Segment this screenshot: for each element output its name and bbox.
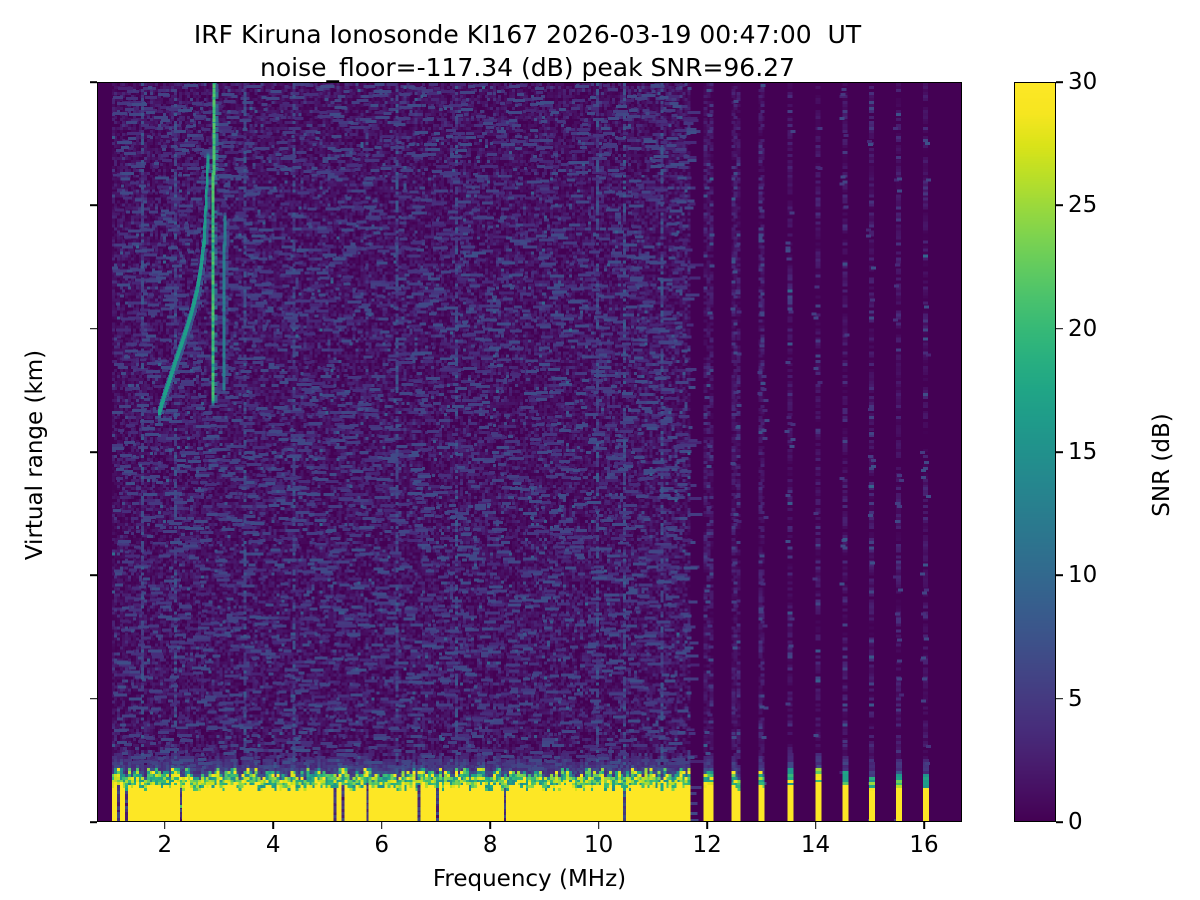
- y-axis-label: Virtual range (km): [22, 245, 48, 665]
- y-tick-mark: [90, 328, 97, 330]
- colorbar-tick-label-20: 20: [1068, 316, 1097, 342]
- y-tick-mark: [90, 205, 97, 207]
- colorbar-tick-mark: [1056, 328, 1063, 330]
- x-tick-mark: [923, 822, 925, 829]
- colorbar-tick-mark: [1056, 575, 1063, 577]
- x-tick-mark: [489, 822, 491, 829]
- y-tick-mark: [90, 451, 97, 453]
- x-tick-mark: [815, 822, 817, 829]
- ionogram-plot-area[interactable]: [97, 82, 962, 822]
- x-tick-label-14: 14: [801, 832, 830, 858]
- colorbar-tick-label-5: 5: [1068, 686, 1083, 712]
- x-tick-label-6: 6: [374, 832, 389, 858]
- colorbar-tick-mark: [1056, 698, 1063, 700]
- y-tick-mark: [90, 821, 97, 823]
- colorbar-gradient: [1015, 83, 1055, 821]
- colorbar-tick-label-25: 25: [1068, 192, 1097, 218]
- colorbar-tick-label-30: 30: [1068, 69, 1097, 95]
- colorbar-tick-label-15: 15: [1068, 439, 1097, 465]
- colorbar-tick-label-10: 10: [1068, 562, 1097, 588]
- x-tick-label-2: 2: [157, 832, 172, 858]
- x-tick-label-16: 16: [909, 832, 938, 858]
- x-tick-label-4: 4: [266, 832, 281, 858]
- x-tick-mark: [381, 822, 383, 829]
- title-line-2: noise_floor=-117.34 (dB) peak SNR=96.27: [0, 51, 1055, 84]
- ionogram-figure: IRF Kiruna Ionosonde KI167 2026-03-19 00…: [0, 0, 1200, 900]
- colorbar-tick-mark: [1056, 821, 1063, 823]
- x-tick-mark: [706, 822, 708, 829]
- y-tick-mark: [90, 698, 97, 700]
- colorbar-tick-label-0: 0: [1068, 809, 1083, 835]
- y-tick-mark: [90, 575, 97, 577]
- colorbar[interactable]: [1014, 82, 1056, 822]
- x-tick-mark: [164, 822, 166, 829]
- y-tick-mark: [90, 81, 97, 83]
- x-axis-label: Frequency (MHz): [97, 866, 962, 892]
- title-line-1: IRF Kiruna Ionosonde KI167 2026-03-19 00…: [0, 18, 1055, 51]
- page-title: IRF Kiruna Ionosonde KI167 2026-03-19 00…: [0, 18, 1055, 84]
- x-tick-label-10: 10: [584, 832, 613, 858]
- x-tick-label-12: 12: [692, 832, 721, 858]
- colorbar-tick-mark: [1056, 451, 1063, 453]
- colorbar-label: SNR (dB): [1149, 255, 1175, 675]
- x-tick-mark: [272, 822, 274, 829]
- ionogram-heatmap: [98, 83, 961, 821]
- x-tick-mark: [598, 822, 600, 829]
- x-tick-label-8: 8: [483, 832, 498, 858]
- colorbar-tick-mark: [1056, 205, 1063, 207]
- colorbar-tick-mark: [1056, 81, 1063, 83]
